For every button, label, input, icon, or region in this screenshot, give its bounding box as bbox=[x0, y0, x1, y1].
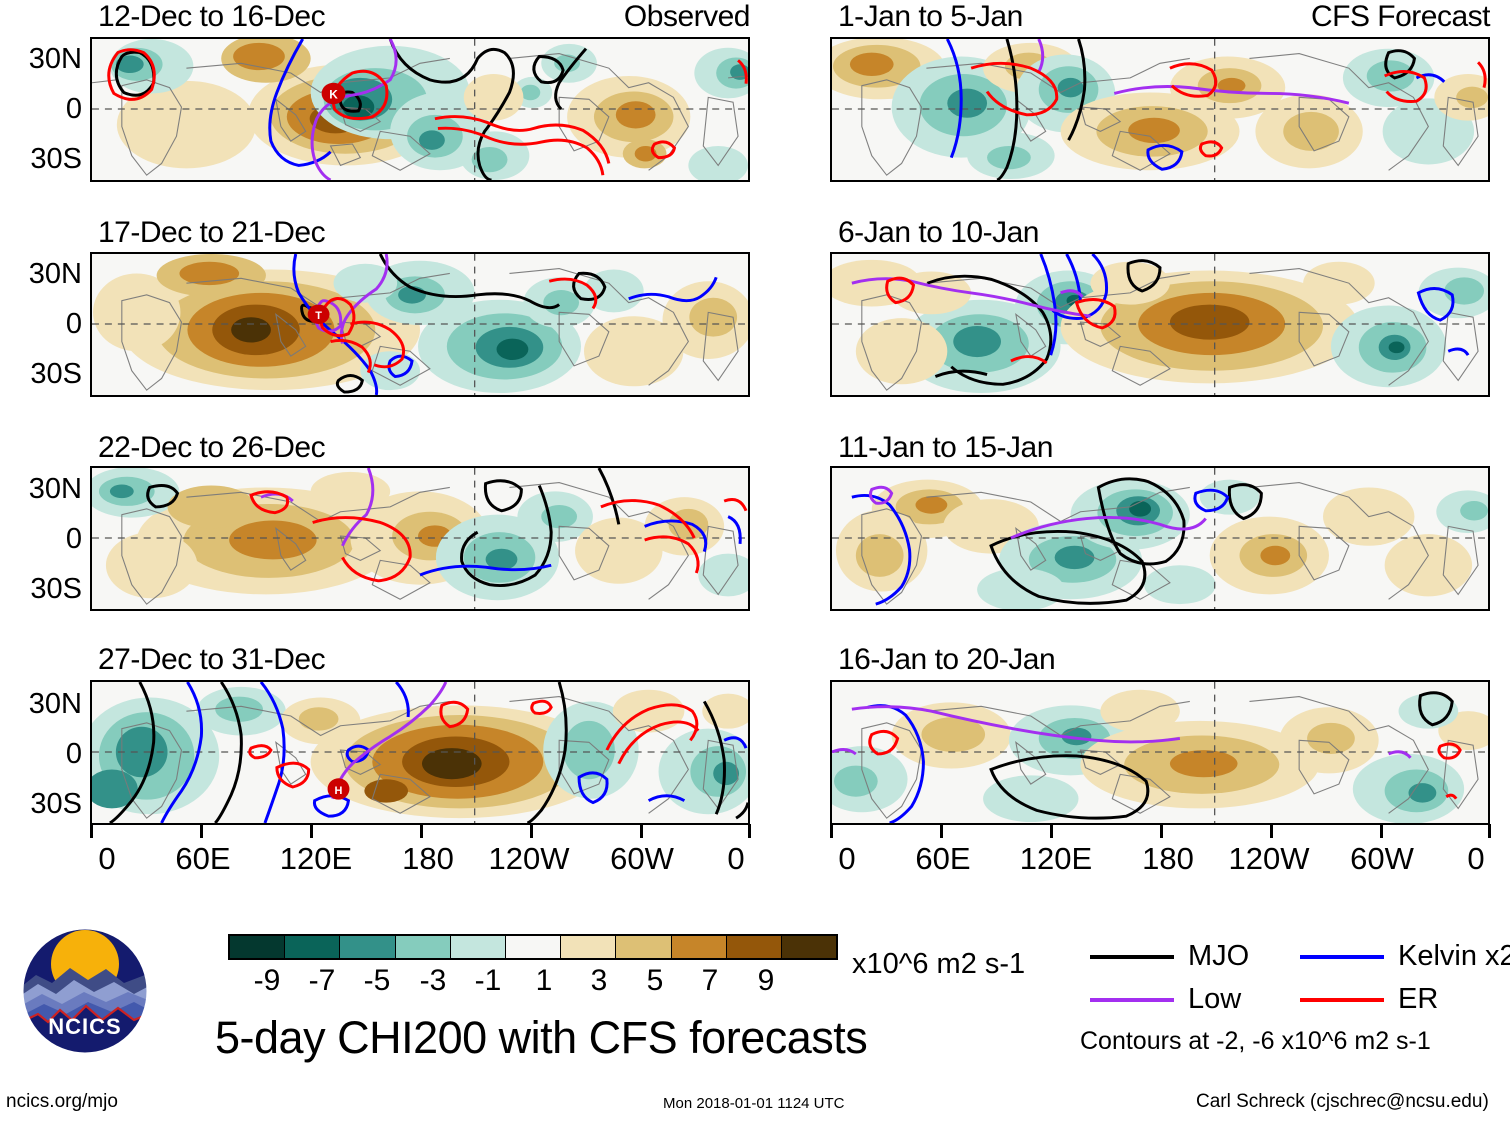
map-canvas-2 bbox=[92, 468, 748, 609]
xlabel-left-60w: 60W bbox=[589, 843, 695, 874]
xtick-left-120e bbox=[310, 824, 313, 838]
cbtick-1: 1 bbox=[516, 966, 572, 996]
panel-title-5: 6-Jan to 10-Jan bbox=[838, 218, 1039, 248]
xlabel-left-60e: 60E bbox=[150, 843, 256, 874]
legend-line-er bbox=[1300, 998, 1384, 1002]
ylabel-30s-row2: 30S bbox=[0, 575, 82, 604]
xlabel-right-120w: 120W bbox=[1206, 843, 1332, 874]
map-panel-27-dec-to-31-dec: H bbox=[90, 680, 750, 825]
cbtick-7: 7 bbox=[682, 966, 738, 996]
map-canvas-0: K bbox=[92, 39, 748, 180]
legend-entry-mjo: MJO bbox=[1090, 942, 1249, 971]
colorbar-swatch-8 bbox=[672, 936, 727, 958]
column-header-observed: Observed bbox=[360, 2, 750, 32]
timestamp: Mon 2018-01-01 1124 UTC bbox=[663, 1096, 845, 1112]
xtick-left-180 bbox=[420, 824, 423, 838]
xlabel-left-120w: 120W bbox=[466, 843, 592, 874]
map-canvas-4 bbox=[832, 39, 1488, 180]
map-canvas-6 bbox=[832, 468, 1488, 609]
ylabel-30n-row3: 30N bbox=[0, 690, 82, 719]
svg-text:T: T bbox=[315, 310, 322, 322]
xlabel-right-120e: 120E bbox=[993, 843, 1119, 874]
ncics-logo-svg: NCICS bbox=[22, 928, 148, 1054]
map-panel-16-jan-to-20-jan bbox=[830, 680, 1490, 825]
xtick-right-0b bbox=[1488, 824, 1491, 838]
legend-entry-er: ER bbox=[1300, 985, 1438, 1014]
map-canvas-7 bbox=[832, 682, 1488, 823]
xtick-left-120w bbox=[530, 824, 533, 838]
panel-title-0: 12-Dec to 16-Dec bbox=[98, 2, 325, 32]
map-canvas-3: H bbox=[92, 682, 748, 823]
panel-title-7: 16-Jan to 20-Jan bbox=[838, 645, 1055, 675]
xlabel-left-0: 0 bbox=[68, 843, 146, 874]
xtick-right-60e bbox=[940, 824, 943, 838]
map-canvas-5 bbox=[832, 254, 1488, 395]
svg-text:K: K bbox=[329, 88, 338, 101]
legend-line-kelvin bbox=[1300, 955, 1384, 959]
panel-title-1: 17-Dec to 21-Dec bbox=[98, 218, 325, 248]
ylabel-0-row0: 0 bbox=[0, 95, 82, 124]
xtick-right-120w bbox=[1270, 824, 1273, 838]
panel-title-2: 22-Dec to 26-Dec bbox=[98, 433, 325, 463]
legend-entry-low: Low bbox=[1090, 985, 1241, 1014]
legend-line-low bbox=[1090, 998, 1174, 1002]
map-panel-22-dec-to-26-dec bbox=[90, 466, 750, 611]
ylabel-0-row2: 0 bbox=[0, 525, 82, 554]
contour-note: Contours at -2, -6 x10^6 m2 s-1 bbox=[1080, 1028, 1431, 1054]
panel-title-6: 11-Jan to 15-Jan bbox=[838, 433, 1053, 463]
cbtick--1: -1 bbox=[460, 966, 516, 996]
legend-label-er: ER bbox=[1398, 985, 1438, 1014]
xtick-right-180 bbox=[1160, 824, 1163, 838]
ylabel-0-row3: 0 bbox=[0, 740, 82, 769]
ylabel-30n-row2: 30N bbox=[0, 475, 82, 504]
xlabel-left-120e: 120E bbox=[253, 843, 379, 874]
map-panel-11-jan-to-15-jan bbox=[830, 466, 1490, 611]
ylabel-30s-row3: 30S bbox=[0, 790, 82, 819]
xlabel-right-60e: 60E bbox=[890, 843, 996, 874]
colorbar-swatch-0 bbox=[230, 936, 285, 958]
ncics-logo: NCICS bbox=[22, 928, 148, 1054]
colorbar-swatch-5 bbox=[506, 936, 561, 958]
site-url[interactable]: ncics.org/mjo bbox=[6, 1092, 118, 1112]
map-panel-17-dec-to-21-dec: T bbox=[90, 252, 750, 397]
legend-label-kelvin: Kelvin x2 bbox=[1398, 942, 1510, 971]
colorbar-units: x10^6 m2 s-1 bbox=[852, 950, 1025, 979]
xtick-left-0b bbox=[748, 824, 751, 838]
colorbar-swatch-9 bbox=[727, 936, 782, 958]
colorbar-swatch-7 bbox=[616, 936, 671, 958]
main-title: 5-day CHI200 with CFS forecasts bbox=[215, 1015, 867, 1061]
map-panel-6-jan-to-10-jan bbox=[830, 252, 1490, 397]
ylabel-30s-row1: 30S bbox=[0, 360, 82, 389]
xtick-left-60w bbox=[640, 824, 643, 838]
ylabel-30n-row1: 30N bbox=[0, 260, 82, 289]
xlabel-left-0b: 0 bbox=[697, 843, 775, 874]
panel-title-3: 27-Dec to 31-Dec bbox=[98, 645, 325, 675]
cbtick-5: 5 bbox=[627, 966, 683, 996]
credit: Carl Schreck (cjschrec@ncsu.edu) bbox=[1196, 1092, 1489, 1112]
legend-label-mjo: MJO bbox=[1188, 942, 1249, 971]
colorbar-swatch-6 bbox=[561, 936, 616, 958]
colorbar-swatch-10 bbox=[782, 936, 836, 958]
legend-label-low: Low bbox=[1188, 985, 1241, 1014]
column-header-cfs-forecast: CFS Forecast bbox=[1100, 2, 1490, 32]
cbtick--7: -7 bbox=[294, 966, 350, 996]
cbtick--3: -3 bbox=[405, 966, 461, 996]
cbtick-3: 3 bbox=[571, 966, 627, 996]
xlabel-right-0: 0 bbox=[808, 843, 886, 874]
map-canvas-1: T bbox=[92, 254, 748, 395]
ylabel-30n-row0: 30N bbox=[0, 45, 82, 74]
xlabel-right-60w: 60W bbox=[1329, 843, 1435, 874]
xtick-right-60w bbox=[1380, 824, 1383, 838]
colorbar-swatch-1 bbox=[285, 936, 340, 958]
svg-text:H: H bbox=[335, 785, 343, 797]
colorbar bbox=[228, 934, 838, 960]
xlabel-right-0b: 0 bbox=[1437, 843, 1510, 874]
panel-title-4: 1-Jan to 5-Jan bbox=[838, 2, 1023, 32]
xtick-right-120e bbox=[1050, 824, 1053, 838]
map-panel-1-jan-to-5-jan bbox=[830, 37, 1490, 182]
colorbar-swatch-4 bbox=[451, 936, 506, 958]
xtick-right-0 bbox=[830, 824, 833, 838]
colorbar-swatch-2 bbox=[340, 936, 395, 958]
cbtick--5: -5 bbox=[349, 966, 405, 996]
ylabel-30s-row0: 30S bbox=[0, 145, 82, 174]
legend-line-mjo bbox=[1090, 955, 1174, 959]
legend-entry-kelvin: Kelvin x2 bbox=[1300, 942, 1510, 971]
xtick-left-0 bbox=[90, 824, 93, 838]
map-panel-12-dec-to-16-dec: K bbox=[90, 37, 750, 182]
cbtick-9: 9 bbox=[738, 966, 794, 996]
ylabel-0-row1: 0 bbox=[0, 310, 82, 339]
cbtick--9: -9 bbox=[239, 966, 295, 996]
xtick-left-60e bbox=[200, 824, 203, 838]
svg-text:NCICS: NCICS bbox=[48, 1014, 121, 1039]
colorbar-swatch-3 bbox=[396, 936, 451, 958]
